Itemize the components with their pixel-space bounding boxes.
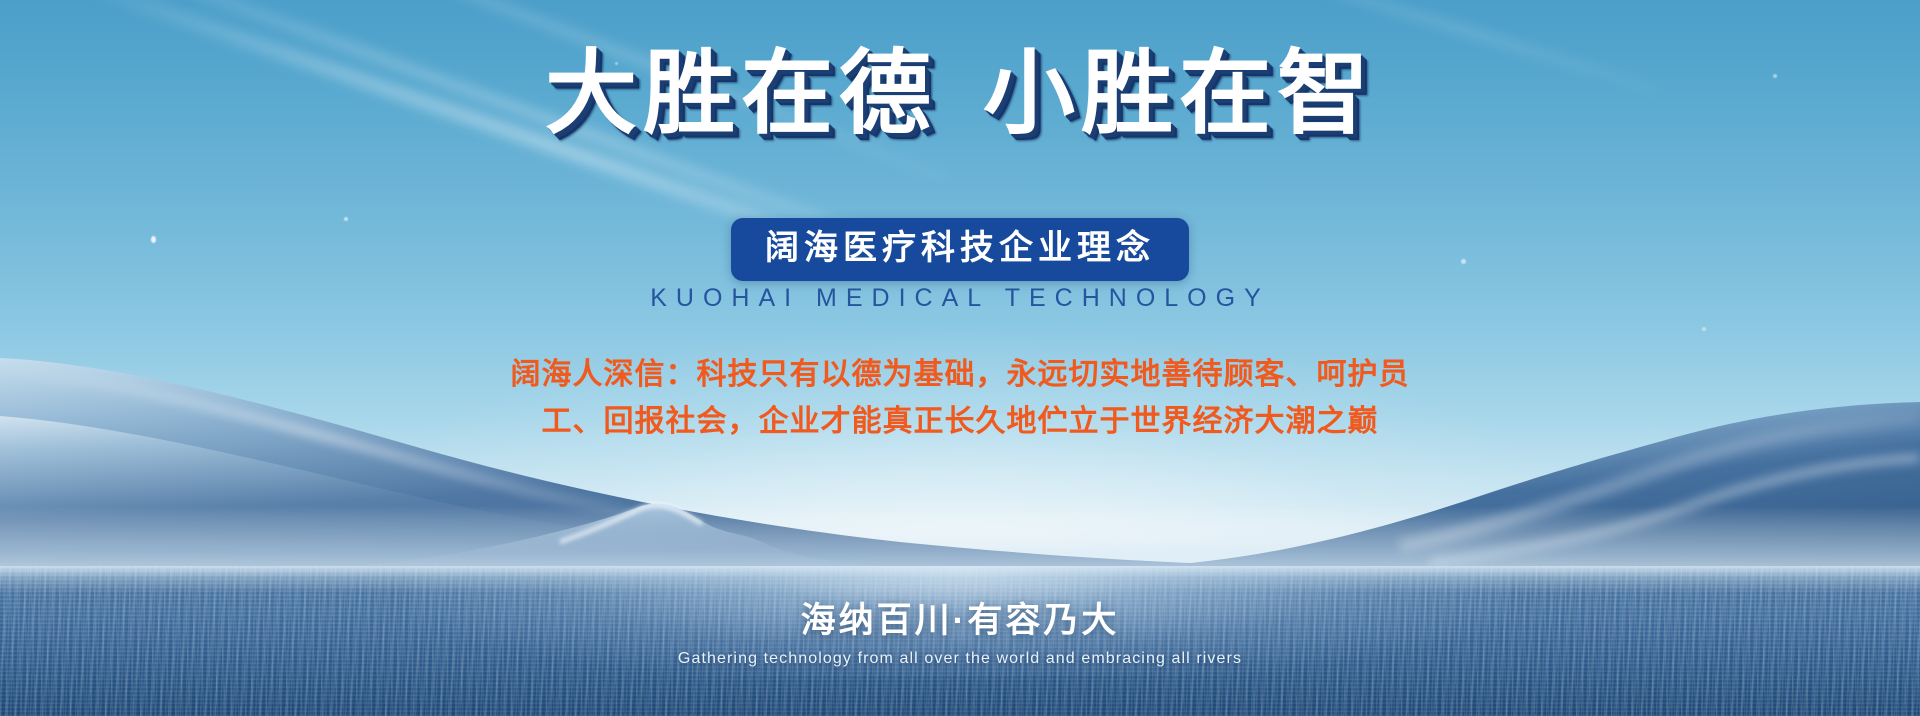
banner-content: 大胜在德小胜在智 阔海医疗科技企业理念 KUOHAI MEDICAL TECHN… — [0, 0, 1920, 716]
headline-part-1: 大胜在德 — [545, 43, 937, 145]
headline-part-2: 小胜在智 — [983, 43, 1375, 145]
paragraph-line-1: 阔海人深信：科技只有以德为基础，永远切实地善待顾客、呵护员 — [0, 352, 1920, 399]
tagline-english: Gathering technology from all over the w… — [0, 650, 1920, 668]
english-subtitle: KUOHAI MEDICAL TECHNOLOGY — [0, 284, 1920, 313]
philosophy-paragraph: 阔海人深信：科技只有以德为基础，永远切实地善待顾客、呵护员 工、回报社会，企业才… — [0, 352, 1920, 445]
concept-badge: 阔海医疗科技企业理念 — [731, 218, 1189, 281]
headline: 大胜在德小胜在智 — [0, 48, 1920, 140]
paragraph-line-2: 工、回报社会，企业才能真正长久地伫立于世界经济大潮之巅 — [0, 399, 1920, 446]
promotional-banner: 大胜在德小胜在智 阔海医疗科技企业理念 KUOHAI MEDICAL TECHN… — [0, 0, 1920, 716]
tagline-chinese: 海纳百川·有容乃大 — [0, 592, 1920, 643]
